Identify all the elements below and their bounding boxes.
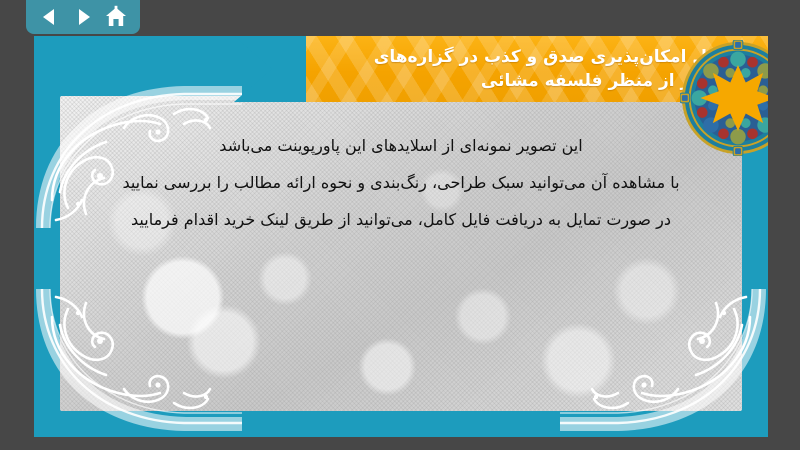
previous-slide-button[interactable]	[37, 4, 63, 30]
body-line-3: در صورت تمایل به دریافت فایل کامل، می‌تو…	[64, 202, 738, 239]
home-button[interactable]	[103, 4, 129, 30]
home-icon	[104, 5, 128, 29]
arrow-right-icon	[72, 6, 94, 28]
slide-body-text: این تصویر نمونه‌ای از اسلایدهای این پاور…	[64, 128, 738, 238]
body-line-1: این تصویر نمونه‌ای از اسلایدهای این پاور…	[64, 128, 738, 165]
slide-frame: این تصویر نمونه‌ای از اسلایدهای این پاور…	[34, 36, 768, 437]
persian-medallion-ornament	[680, 40, 768, 156]
body-line-2: با مشاهده آن می‌توانید سبک طراحی، رنگ‌بن…	[64, 165, 738, 202]
slide-viewer: این تصویر نمونه‌ای از اسلایدهای این پاور…	[0, 0, 800, 450]
arrow-left-icon	[39, 6, 61, 28]
slide-navigation-bar	[26, 0, 140, 34]
next-slide-button[interactable]	[70, 4, 96, 30]
